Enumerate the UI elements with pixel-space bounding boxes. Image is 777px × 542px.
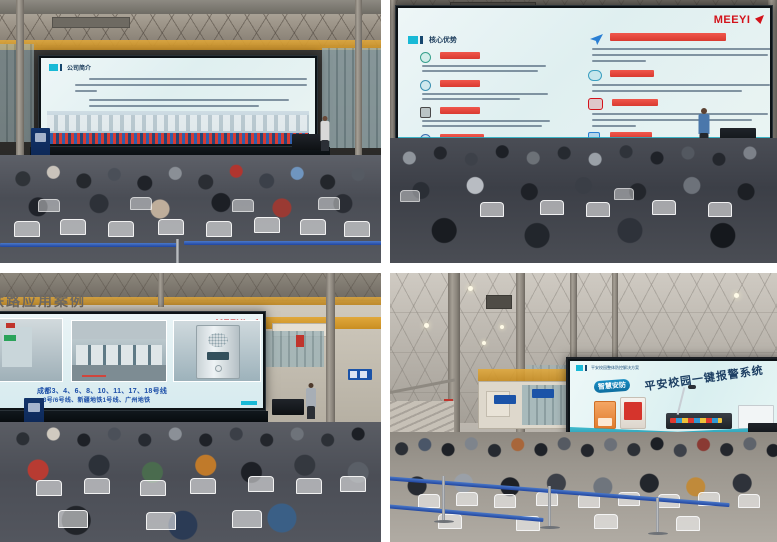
slide-body-line: [89, 99, 289, 101]
barrier-post: [176, 239, 179, 263]
title-accent-square: [49, 64, 58, 71]
chair: [494, 494, 516, 508]
slide-title-row: 公司简介: [49, 63, 91, 72]
upper-wall: [0, 0, 381, 14]
eyebrow-accent-square: [576, 365, 583, 371]
barrier-post-base: [540, 526, 560, 529]
crowd-barrier: [184, 241, 381, 245]
slide-company-intro: 公司简介 深圳市某某电子科技有限公司成立于2005年，是国家高新技术企业、深圳市…: [41, 58, 315, 144]
case-photo-1: [0, 318, 63, 382]
crowd-barrier: [0, 243, 178, 247]
ceiling-light: [424, 323, 429, 328]
chair: [418, 494, 440, 508]
speaker-legs: [307, 406, 315, 419]
terminal-speaker-grille: [208, 333, 228, 347]
slide-badge: 智慧安防: [594, 379, 631, 393]
item-desc-line: [422, 70, 538, 72]
eyebrow-accent-bar: [585, 365, 587, 371]
item-desc-line: [422, 125, 542, 127]
chair: [254, 217, 280, 233]
chair: [206, 221, 232, 237]
ceiling-light: [500, 325, 504, 329]
chair: [340, 476, 366, 492]
chair: [480, 202, 504, 217]
sign-icon: [350, 371, 357, 378]
title-accent-bar: [60, 64, 62, 71]
led-screen: MEEYI 核心优势: [395, 5, 773, 145]
slide-smart-security: 平安校园整体防控解决方案 智慧安防 平安校园一键报警系统: [570, 361, 777, 435]
item-desc-line: [592, 48, 770, 50]
barrier-post: [548, 486, 551, 526]
case-photo-3: [173, 320, 261, 382]
item-desc-line: [592, 54, 768, 56]
photo-ceiling: [72, 321, 166, 339]
badge-tech: [440, 52, 480, 59]
badge-open-collab: [610, 70, 654, 77]
slide-footer-accent: [241, 401, 257, 405]
badge-network-protocol: [610, 33, 726, 41]
chip-icon: [588, 98, 603, 110]
speaker-legs: [321, 140, 329, 151]
slide-body-line: [89, 78, 307, 80]
column: [326, 273, 335, 423]
item-desc-line: [592, 125, 636, 127]
audience-area: [0, 422, 381, 542]
sign-icon: [360, 371, 367, 378]
meeyi-logo: MEEYI: [714, 14, 764, 26]
mic-capsule: [688, 385, 696, 389]
photo-collage: Auditorium audience watching company int…: [0, 0, 777, 542]
chair: [130, 197, 152, 210]
photo-sign: [6, 323, 15, 328]
barrier-post: [442, 476, 445, 520]
photo-floor: [72, 365, 166, 381]
barrier-post-base: [648, 532, 668, 535]
item-desc-line: [592, 113, 768, 115]
chair: [300, 219, 326, 235]
chair: [318, 197, 340, 210]
badge-service: [440, 80, 480, 87]
chair: [594, 514, 618, 529]
barrier-post: [656, 498, 659, 532]
slide-body-line: [75, 90, 97, 92]
photo-crowd: [47, 133, 309, 144]
chair: [296, 478, 322, 494]
slide-body-line: [89, 105, 259, 107]
item-desc-line: [592, 84, 770, 86]
item-desc-line: [422, 98, 520, 100]
terminal-display: [207, 352, 229, 360]
speaker-body: [699, 114, 710, 134]
chair: [232, 199, 254, 212]
badge-iot-platform: [612, 99, 658, 106]
chair: [248, 476, 274, 492]
product-label: [598, 418, 612, 426]
led-screen: 公司简介 深圳市某某电子科技有限公司成立于2005年，是国家高新技术企业、深圳市…: [38, 55, 318, 147]
ceiling-light: [482, 341, 486, 345]
rollup-logo: [35, 133, 46, 142]
fire-extinguisher-sign: [296, 335, 304, 347]
wayfinding-sign: [494, 395, 516, 404]
item-desc-line: [592, 90, 742, 92]
podium: [272, 399, 304, 415]
panel-top-left[interactable]: Auditorium audience watching company int…: [0, 0, 381, 263]
photo-sign: [4, 335, 16, 341]
chair: [84, 478, 110, 494]
chair: [344, 221, 370, 237]
slide-eyebrow-text: 平安校园整体防控解决方案: [591, 365, 639, 371]
product-console: [666, 413, 732, 429]
photo-floor-line: [82, 375, 106, 377]
led-screen: 平安校园整体防控解决方案 智慧安防 平安校园一键报警系统: [566, 357, 777, 439]
chair: [146, 512, 176, 530]
staircase: [390, 401, 454, 435]
item-desc-line: [592, 119, 752, 121]
slide-group-photo: [47, 111, 309, 144]
audience-area: [390, 138, 777, 263]
console-buttons: [670, 418, 722, 423]
chair: [540, 200, 564, 215]
audience-heads: [390, 138, 777, 263]
slide-body-line: [75, 84, 307, 86]
barrier-post-base: [434, 520, 454, 523]
chair: [58, 510, 88, 528]
link-icon: [420, 52, 431, 63]
chair: [708, 202, 732, 217]
slide-title-text: 平安校园一键报警系统: [643, 362, 764, 395]
chair: [676, 516, 700, 531]
item-desc-line: [422, 120, 550, 122]
ceiling-light: [734, 293, 739, 298]
chair: [400, 190, 420, 202]
chair: [60, 219, 86, 235]
slide-core-advantages: MEEYI 核心优势: [398, 8, 770, 142]
chair: [158, 219, 184, 235]
slide-title-text: 公司简介: [67, 63, 91, 72]
slide-body-text: 深圳市某某电子科技有限公司成立于2005年，是国家高新技术企业、深圳市创新型企业…: [41, 58, 42, 59]
photo-building: [47, 115, 309, 131]
panel-bottom-left[interactable]: Railway application cases slide with met…: [0, 273, 381, 542]
chair: [586, 202, 610, 217]
ceiling-vent: [486, 295, 512, 309]
slide-title-text: 核心优势: [429, 35, 457, 45]
chair: [738, 494, 760, 508]
column: [355, 0, 362, 160]
product-red-panel: [624, 402, 642, 420]
audience-area: [0, 155, 381, 263]
panel-top-right[interactable]: Speaker presenting core advantages slide…: [390, 0, 777, 263]
led-screen: MEEYI: [0, 311, 266, 411]
ceiling-vent: [52, 17, 130, 28]
audience-area: [390, 432, 777, 542]
item-desc-line: [422, 65, 546, 67]
slide-title-row: 核心优势: [408, 35, 457, 45]
booth-fascia: [478, 369, 574, 381]
case-photo-2: [71, 320, 167, 382]
console-gooseneck-mic: [677, 387, 686, 415]
product-call-box: [620, 397, 646, 429]
meeyi-logo-text: MEEYI: [714, 14, 751, 26]
chair: [14, 221, 40, 237]
chair: [614, 188, 634, 200]
item-desc-line: [422, 93, 548, 95]
chair: [190, 478, 216, 494]
speaker: [304, 383, 318, 419]
column: [16, 0, 24, 160]
chair: [108, 221, 134, 237]
badge-talent: [440, 107, 480, 114]
cloud-icon: [588, 70, 602, 81]
speaker: [318, 116, 331, 150]
ceiling-light: [468, 286, 473, 291]
terminal-call-button: [215, 365, 222, 372]
slide-railway-cases: MEEYI: [0, 314, 263, 408]
item-desc-line: [592, 60, 646, 62]
chair: [456, 492, 478, 506]
product-alarm-host: [594, 401, 616, 429]
title-accent-square: [408, 36, 418, 44]
rollup-logo: [28, 403, 40, 412]
booth-glass: [266, 331, 324, 367]
chair: [652, 200, 676, 215]
chair: [232, 510, 262, 528]
photo-detail: [2, 327, 32, 367]
chair: [36, 480, 62, 496]
photo-fare-gates: [76, 345, 162, 367]
chair: [536, 492, 558, 506]
key-icon: [420, 80, 431, 91]
pen-icon: [420, 107, 431, 118]
speaker-body: [320, 121, 329, 141]
slide-caption-line-2: 3号/6号线、新疆地铁1号线、广州地铁: [43, 395, 150, 404]
slide-header-title: 铁路应用案例: [0, 291, 86, 311]
meeyi-mark-icon: [755, 15, 764, 24]
speaker-body: [306, 388, 316, 407]
column: [158, 273, 164, 307]
wayfinding-sign: [532, 389, 554, 398]
chair: [140, 480, 166, 496]
title-accent-bar: [420, 36, 423, 44]
plane-icon: [590, 34, 603, 45]
chair: [38, 199, 60, 212]
slide-eyebrow-row: 平安校园整体防控解决方案: [576, 365, 639, 371]
panel-bottom-right[interactable]: Wide view of exhibition hall with large …: [390, 273, 777, 542]
